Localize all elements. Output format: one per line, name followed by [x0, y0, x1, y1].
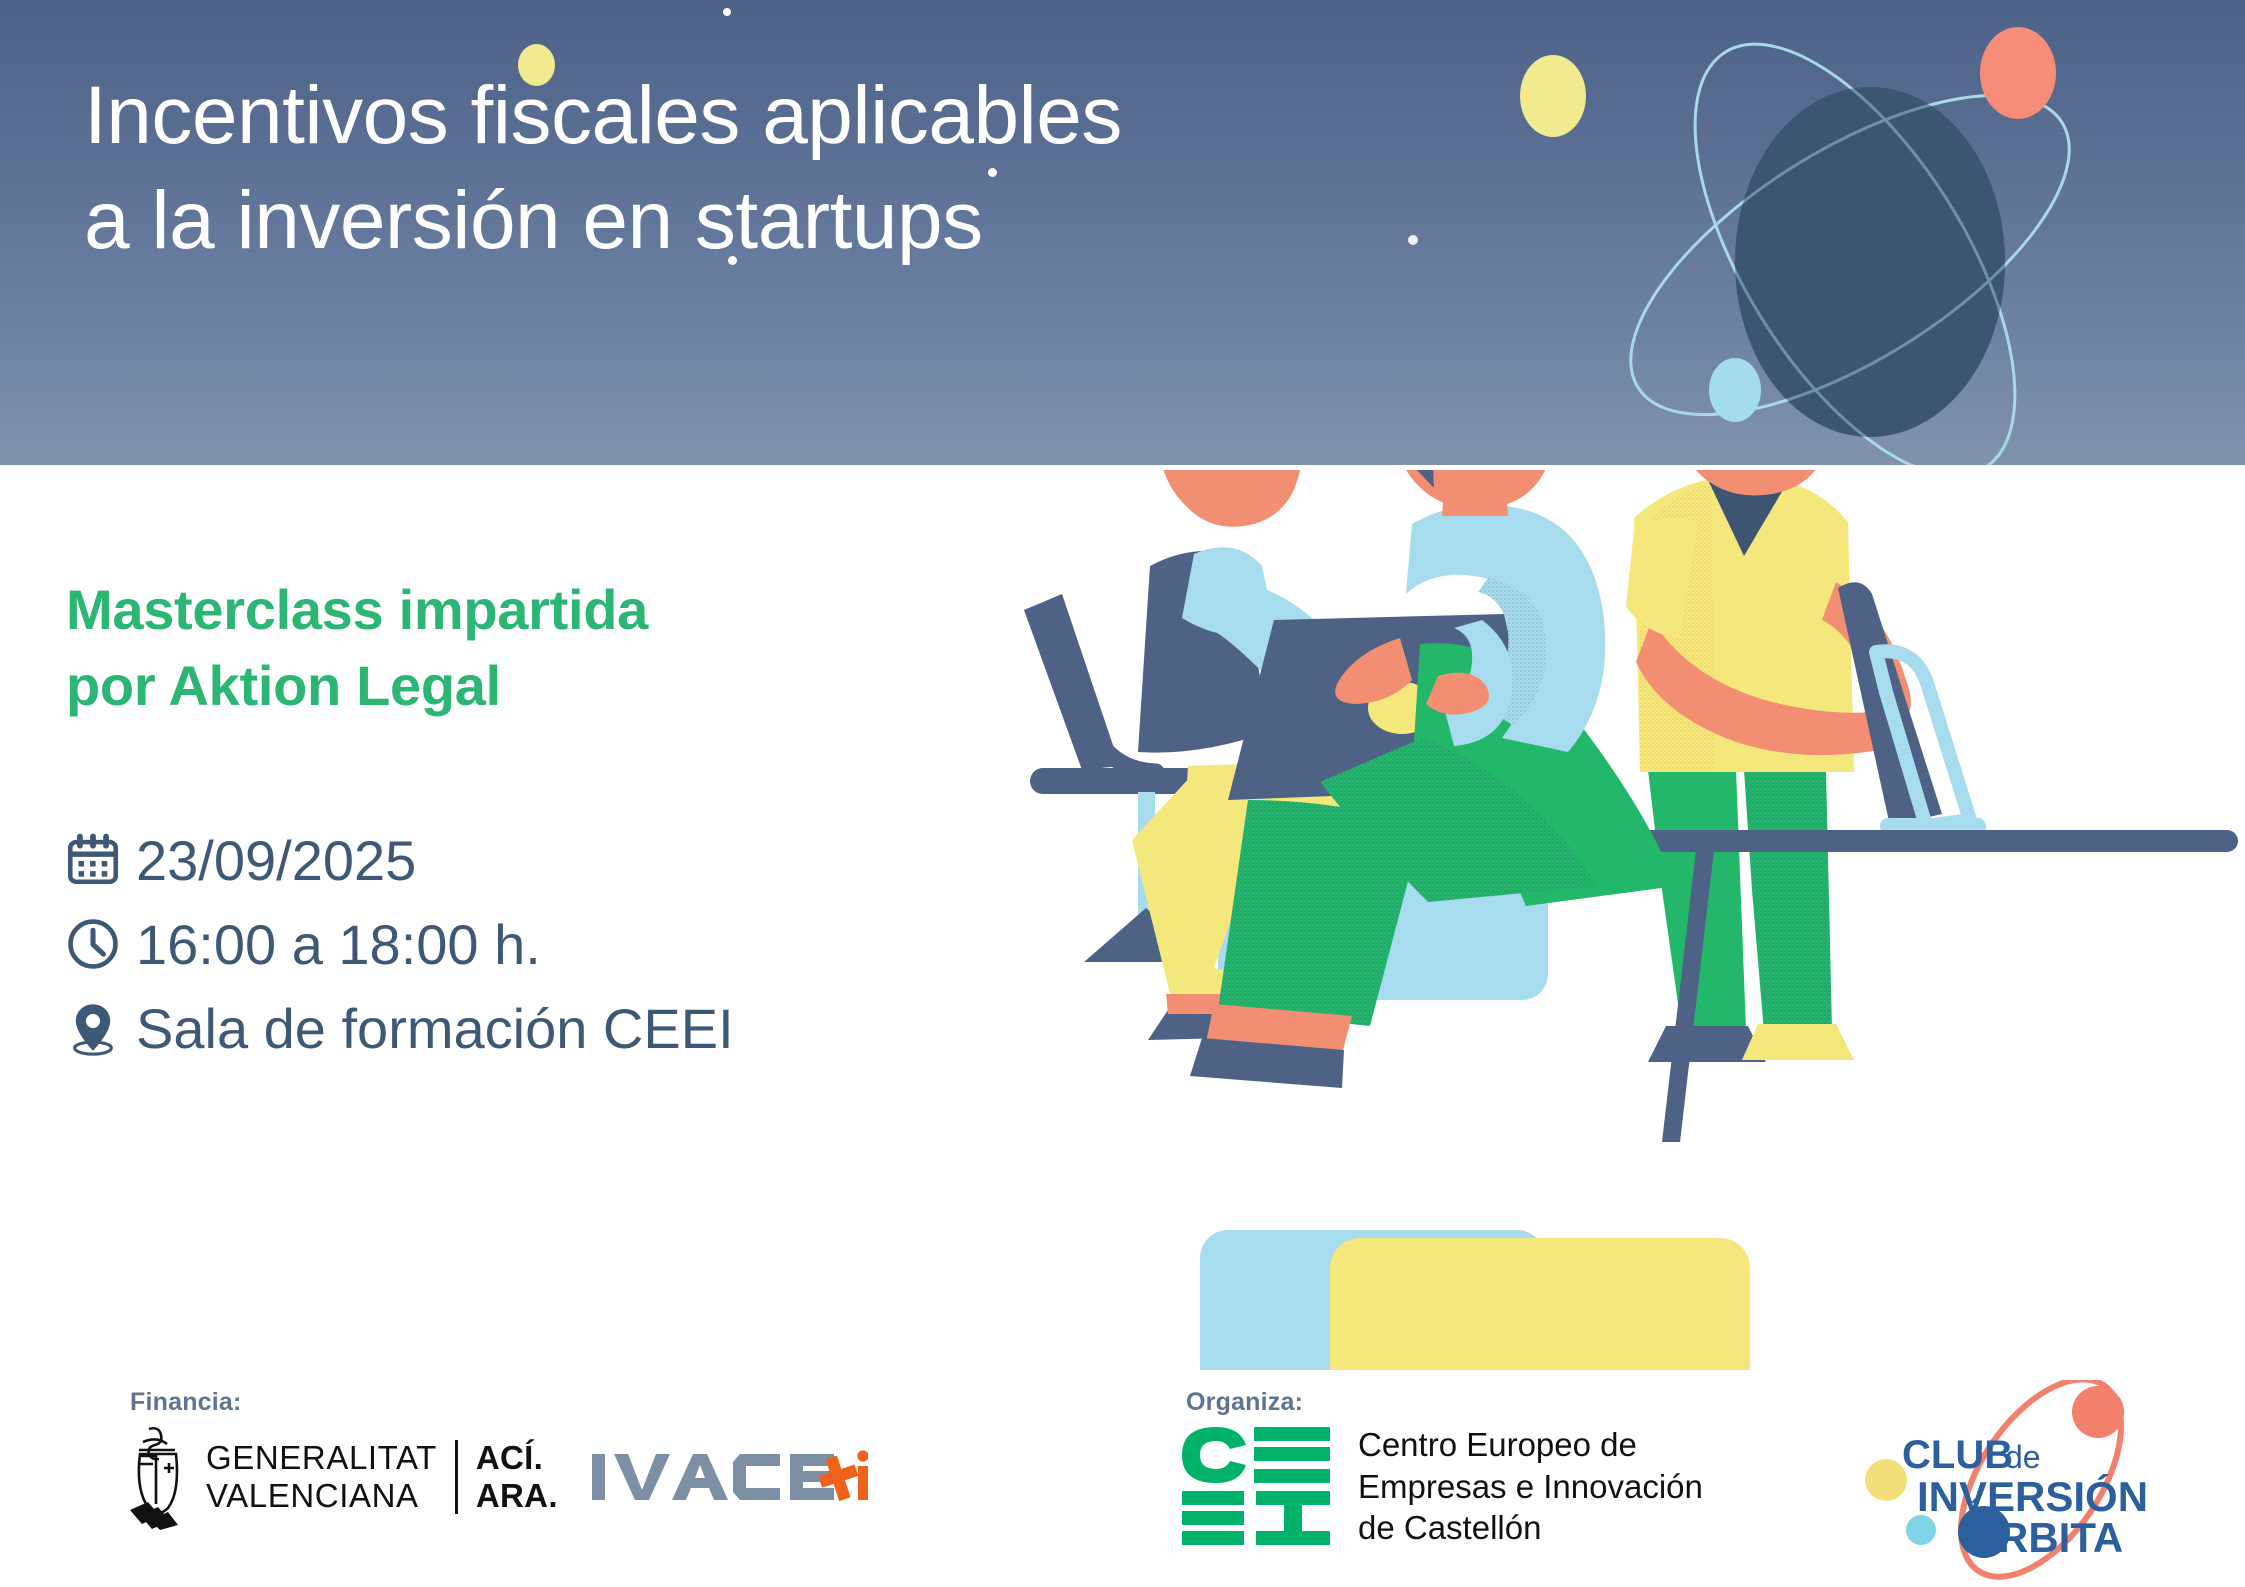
orbita-dot-coral — [2072, 1386, 2124, 1438]
detail-location-text: Sala de formación CEEI — [136, 996, 734, 1061]
financia-logos: GENERALITAT VALENCIANA ACÍ. ARA. — [120, 1424, 868, 1530]
decor-dot-white-top — [723, 8, 731, 16]
clock-icon — [62, 913, 124, 975]
woman-neck — [1442, 470, 1508, 516]
orbit-dot-cyan — [1709, 358, 1761, 422]
page-title: Incentivos fiscales aplicables a la inve… — [84, 64, 1122, 274]
orbita-line3: RBITA — [1998, 1514, 2123, 1561]
masterclass-heading: Masterclass impartida por Aktion Legal — [66, 572, 648, 723]
orbit-dot-coral — [1980, 27, 2056, 119]
orbita-line2: INVERSIÓN — [1917, 1472, 2148, 1520]
detail-row-time: 16:00 a 18:00 h. — [62, 902, 734, 986]
generalitat-wordmark: GENERALITAT VALENCIANA — [206, 1439, 437, 1516]
standing-man — [1626, 470, 1911, 1062]
header-banner: Incentivos fiscales aplicables a la inve… — [0, 0, 2245, 465]
planet-shape-overlay — [1735, 87, 2005, 437]
orbita-dot-yellow — [1865, 1459, 1907, 1501]
orbita-line1-de: de — [2005, 1439, 2041, 1475]
generalitat-coat-of-arms-icon — [120, 1424, 198, 1530]
detail-time-text: 16:00 a 18:00 h. — [136, 912, 541, 977]
generalitat-valenciana-logo: GENERALITAT VALENCIANA — [120, 1424, 437, 1530]
event-details-list: 23/09/2025 16:00 a 18:00 h. Sala de form… — [62, 818, 734, 1070]
logo-divider — [455, 1440, 458, 1514]
detail-row-date: 23/09/2025 — [62, 818, 734, 902]
detail-row-location: Sala de formación CEEI — [62, 986, 734, 1070]
ivace-logo — [590, 1440, 868, 1514]
financia-label: Financia: — [130, 1388, 242, 1417]
std-leg-right — [1744, 770, 1832, 1032]
location-pin-icon — [62, 997, 124, 1059]
man-shirt-shoulder — [1182, 547, 1276, 637]
orbita-accent-mark: ´ — [1970, 1494, 1980, 1527]
orbit-dot-yellow — [1520, 55, 1586, 137]
orbit-dot-small-white — [1408, 235, 1418, 245]
organiza-label: Organiza: — [1186, 1388, 1303, 1417]
detail-date-text: 23/09/2025 — [136, 828, 416, 893]
office-team-illustration — [1020, 470, 2245, 1370]
club-inversion-orbita-logo: CLUB de INVERSIÓN RBITA ´ — [1845, 1380, 2235, 1580]
scene — [1024, 470, 2238, 1370]
ceei-full-name: Centro Europeo de Empresas e Innovación … — [1358, 1424, 1703, 1549]
organiza-logos: Centro Europeo de Empresas e Innovación … — [1180, 1424, 1703, 1549]
std-shoe-right — [1742, 1024, 1854, 1060]
calendar-icon — [62, 829, 124, 891]
event-poster: Incentivos fiscales aplicables a la inve… — [0, 0, 2245, 1587]
aci-ara-logo: ACÍ. ARA. — [476, 1439, 558, 1516]
orbit-planet-graphic — [1400, 0, 2245, 465]
ivace-wordmark — [590, 1440, 868, 1514]
orbita-line1-club: CLUB — [1902, 1433, 2013, 1477]
pouf-yellow — [1330, 1238, 1750, 1370]
desk-top — [1618, 830, 2238, 852]
ceei-logo — [1180, 1425, 1332, 1547]
